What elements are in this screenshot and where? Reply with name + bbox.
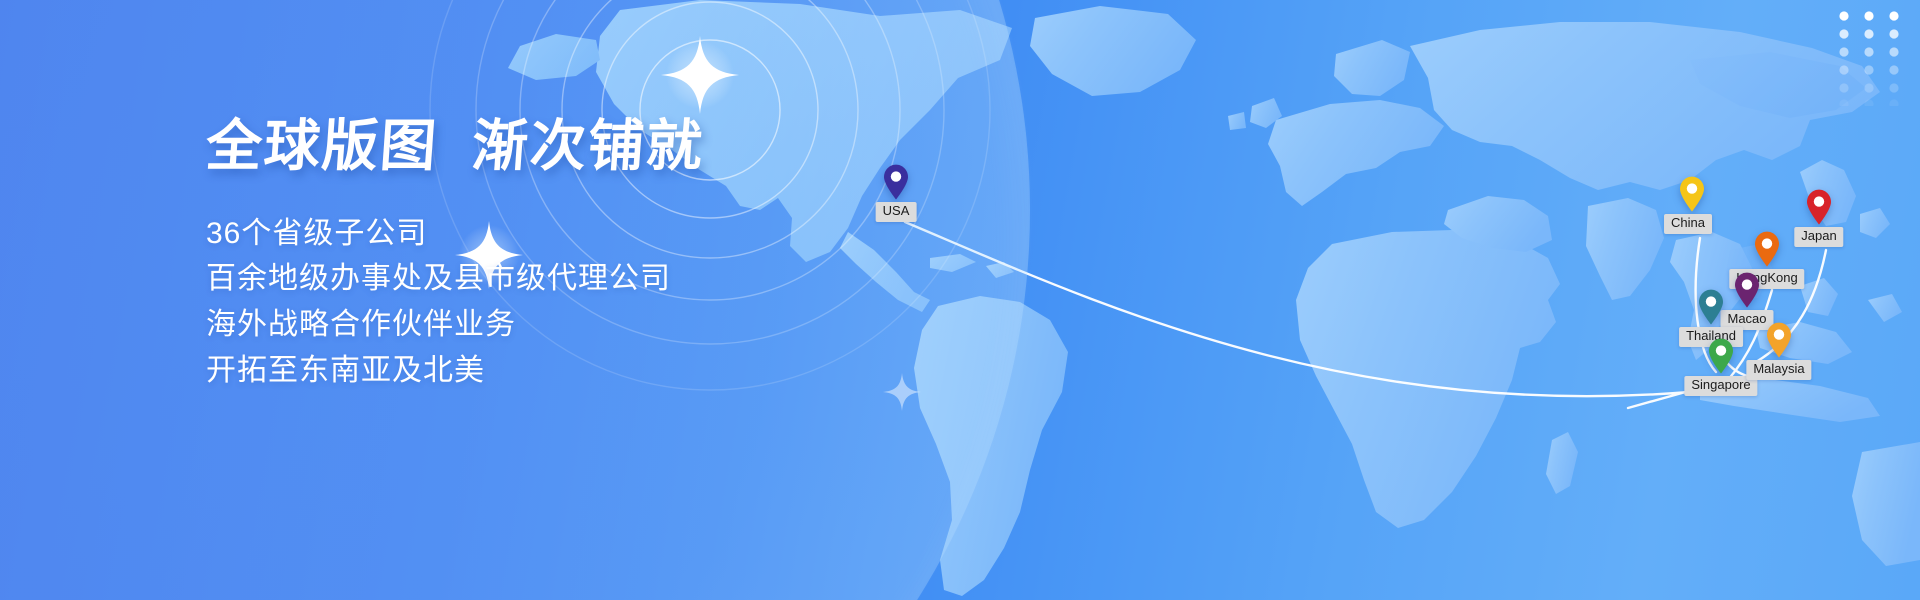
global-map-banner: 全球版图渐次铺就 36个省级子公司 百余地级办事处及县市级代理公司 海外战略合作… <box>0 0 1920 600</box>
map-pin-icon <box>1734 272 1760 308</box>
map-pin-icon <box>1679 176 1705 212</box>
map-pin-icon <box>1754 231 1780 267</box>
map-marker-label: China <box>1664 214 1712 234</box>
map-pin-icon <box>883 164 909 200</box>
map-pin-icon <box>1708 338 1734 374</box>
map-marker-label: Japan <box>1794 227 1843 247</box>
map-pin-icon <box>1766 322 1792 358</box>
map-marker-label: USA <box>876 202 917 222</box>
map-pin-icon <box>1698 289 1724 325</box>
map-marker-label: Malaysia <box>1746 360 1811 380</box>
map-pin-icon <box>1806 189 1832 225</box>
map-marker-layer: USAChinaJapanHongKongMacaoThailandSingap… <box>0 0 1920 600</box>
